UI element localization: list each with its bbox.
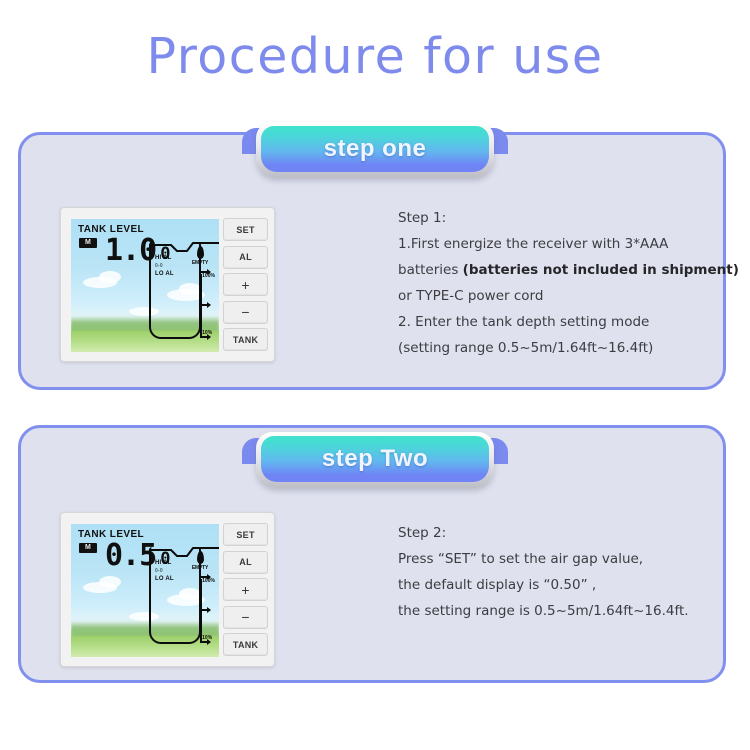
step-banner-two: step Two (256, 432, 494, 488)
banner-inner: step one (261, 126, 489, 172)
tank-button[interactable]: TANK (223, 633, 268, 656)
banner-frame: step one (256, 122, 494, 178)
scale-tick-mid (201, 304, 210, 306)
instruction-line: (setting range 0.5~5m/1.64ft~16.4ft) (398, 335, 718, 361)
scale-tick-bottom: 10% (201, 330, 212, 338)
cloud-icon (99, 576, 121, 588)
arrow-icon (201, 271, 210, 273)
droplet-icon (197, 551, 204, 564)
alarm-labels: HI AL 0-0 LO AL (155, 254, 174, 279)
arrow-icon (201, 304, 210, 306)
unit-badge: M (79, 543, 97, 553)
cloud-icon (99, 271, 121, 283)
level-scale-graphic: 100% 10% (200, 274, 202, 338)
alarm-hi-label: HI AL (155, 254, 174, 263)
alarm-mid-label: 0-0 (155, 263, 174, 270)
arrow-icon (201, 336, 210, 338)
device-button-column-step-one: SET AL + − TANK (223, 218, 268, 351)
alarm-mid-label: 0-0 (155, 568, 174, 575)
device-button-column-step-two: SET AL + − TANK (223, 523, 268, 656)
instruction-line: 1.First energize the receiver with 3*AAA (398, 231, 718, 257)
instruction-line: 2. Enter the tank depth setting mode (398, 309, 718, 335)
instruction-line: the setting range is 0.5~5m/1.64ft~16.4f… (398, 598, 718, 624)
banner-label: step one (324, 135, 427, 163)
plus-button[interactable]: + (223, 273, 268, 296)
instructions-step-two: Step 2: Press “SET” to set the air gap v… (398, 520, 718, 624)
lcd-screen-step-two: TANK LEVEL M 0.5 0 HI AL 0-0 LO AL EMPTY… (71, 524, 219, 657)
arrow-icon (201, 609, 210, 611)
device-illustration-step-one: TANK LEVEL M 1.0 0 HI AL 0-0 LO AL EMPTY… (60, 207, 275, 362)
minus-button[interactable]: − (223, 301, 268, 324)
empty-indicator: EMPTY (192, 551, 208, 571)
page-title: Procedure for use (0, 28, 750, 85)
scale-tick-top: 100% (201, 271, 215, 279)
banner-inner: step Two (261, 436, 489, 482)
set-button[interactable]: SET (223, 523, 268, 546)
alarm-labels: HI AL 0-0 LO AL (155, 559, 174, 584)
alarm-hi-label: HI AL (155, 559, 174, 568)
scale-tick-top: 100% (201, 576, 215, 584)
instruction-line: batteries (batteries not included in shi… (398, 257, 718, 283)
step-banner-one: step one (256, 122, 494, 178)
instructions-step-one: Step 1: 1.First energize the receiver wi… (398, 205, 718, 361)
scale-tick-mid (201, 609, 210, 611)
al-button[interactable]: AL (223, 246, 268, 269)
scale-tick-bottom: 10% (201, 635, 212, 643)
empty-label: EMPTY (192, 565, 208, 571)
plus-button[interactable]: + (223, 578, 268, 601)
unit-badge: M (79, 238, 97, 248)
minus-button[interactable]: − (223, 606, 268, 629)
alarm-lo-label: LO AL (155, 270, 174, 279)
level-scale-graphic: 100% 10% (200, 579, 202, 643)
banner-frame: step Two (256, 432, 494, 488)
instruction-line-bold: (batteries not included in shipment) (463, 262, 739, 278)
droplet-icon (197, 246, 204, 259)
instruction-line: or TYPE-C power cord (398, 283, 718, 309)
tank-button[interactable]: TANK (223, 328, 268, 351)
instruction-line: Step 1: (398, 205, 718, 231)
set-button[interactable]: SET (223, 218, 268, 241)
device-illustration-step-two: TANK LEVEL M 0.5 0 HI AL 0-0 LO AL EMPTY… (60, 512, 275, 667)
instruction-line-text: batteries (398, 262, 463, 278)
empty-indicator: EMPTY (192, 246, 208, 266)
banner-label: step Two (322, 445, 428, 473)
instruction-line: Press “SET” to set the air gap value, (398, 546, 718, 572)
lcd-screen-step-one: TANK LEVEL M 1.0 0 HI AL 0-0 LO AL EMPTY… (71, 219, 219, 352)
arrow-icon (201, 641, 210, 643)
instruction-line: the default display is “0.50” , (398, 572, 718, 598)
al-button[interactable]: AL (223, 551, 268, 574)
instruction-line: Step 2: (398, 520, 718, 546)
alarm-lo-label: LO AL (155, 575, 174, 584)
empty-label: EMPTY (192, 260, 208, 266)
arrow-icon (201, 576, 210, 578)
